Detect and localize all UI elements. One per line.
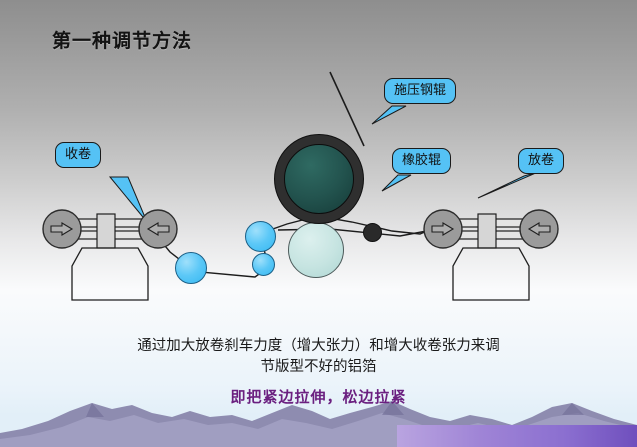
left-machine-frame [40,196,180,304]
callout-rubber-roller[interactable]: 橡胶辊 [392,148,451,174]
caption-main: 通过加大放卷刹车力度（增大张力）和增大收卷张力来调 节版型不好的铝箔 [0,336,637,378]
right-machine-frame [418,196,563,304]
callout-rewind[interactable]: 收卷 [55,142,101,168]
rubber-roller [288,222,344,278]
slide-canvas: 第一种调节方法 [0,0,637,447]
left-machine [40,196,180,304]
steel-roller-core [284,144,354,214]
steel-roller-leader-line [330,72,364,146]
right-machine [418,196,563,304]
callout-unwind[interactable]: 放卷 [518,148,564,174]
rubber-callout-tail [382,175,411,191]
idler-roller-3 [245,221,276,252]
callout-unwind-label: 放卷 [528,153,554,168]
idler-roller-2 [252,253,275,276]
callout-rewind-label: 收卷 [65,147,91,162]
unwind-callout-tail [478,172,538,198]
callout-rubber-roller-label: 橡胶辊 [402,153,441,168]
caption-main-line1: 通过加大放卷刹车力度（增大张力）和增大收卷张力来调 [0,336,637,357]
small-dark-roller [363,223,382,242]
callout-steel-roller-label: 施压钢辊 [394,83,446,98]
steel-callout-tail [372,106,406,124]
caption-accent: 即把紧边拉伸，松边拉紧 [0,386,637,407]
callout-steel-roller[interactable]: 施压钢辊 [384,78,456,104]
steel-roller [274,134,364,224]
purple-accent-band [397,425,637,447]
idler-roller-1 [175,252,207,284]
page-title: 第一种调节方法 [52,26,192,53]
caption-main-line2: 节版型不好的铝箔 [0,357,637,378]
